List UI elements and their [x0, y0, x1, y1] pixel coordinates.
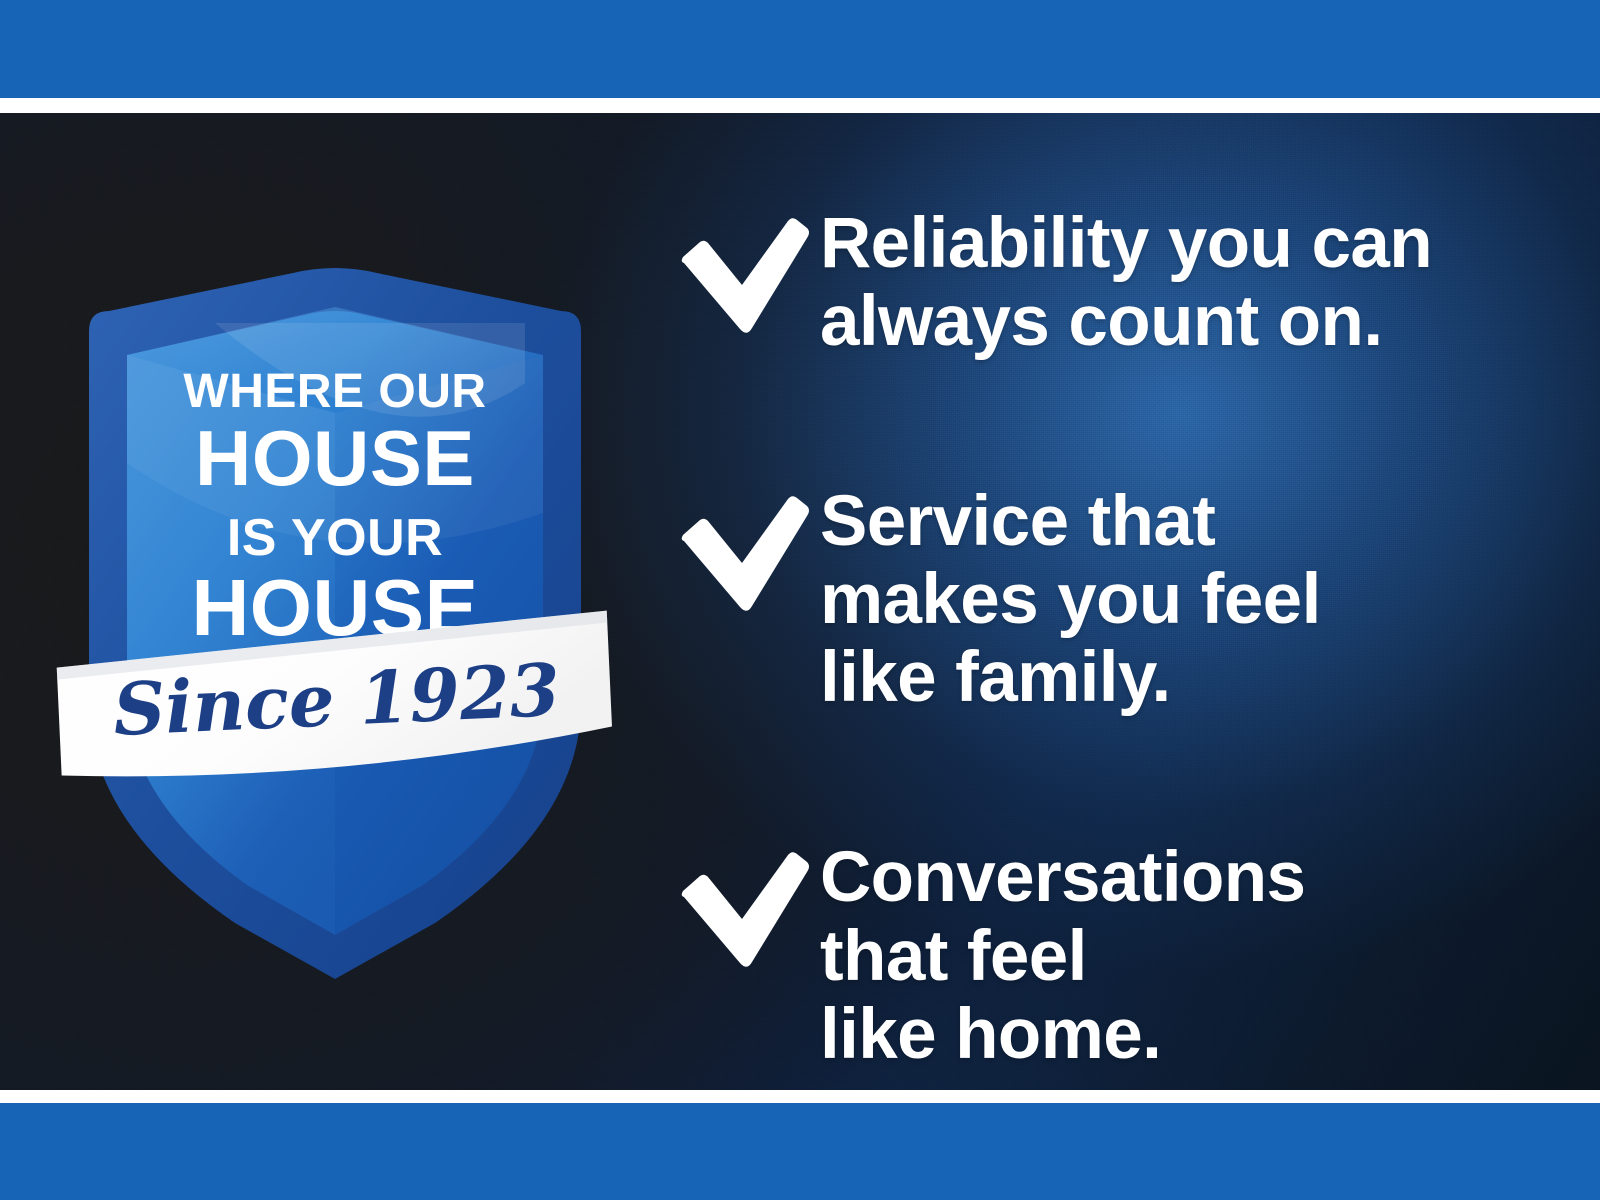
benefit-line: Reliability you can [820, 205, 1570, 283]
bottom-brand-bar [0, 1103, 1600, 1200]
check-icon-wrap-2 [670, 483, 820, 615]
benefit-line: Service that [820, 483, 1570, 561]
promo-poster: WHERE OUR HOUSE IS YOUR HOUSE Since 1923 [0, 0, 1600, 1200]
benefits-list: Reliability you can always count on. Ser… [670, 205, 1570, 1074]
shield-badge: WHERE OUR HOUSE IS YOUR HOUSE Since 1923 [55, 263, 615, 963]
top-brand-bar [0, 0, 1600, 98]
bottom-bar-divider [0, 1090, 1600, 1103]
benefit-text-1: Reliability you can always count on. [820, 205, 1570, 361]
check-icon [670, 215, 810, 337]
top-bar-divider [0, 98, 1600, 113]
benefit-text-2: Service that makes you feel like family. [820, 483, 1570, 717]
benefit-item-reliability: Reliability you can always count on. [670, 205, 1570, 361]
check-icon [670, 849, 810, 971]
badge-line-3: IS YOUR [227, 509, 443, 567]
benefit-item-conversations: Conversations that feel like home. [670, 839, 1570, 1073]
benefit-item-service: Service that makes you feel like family. [670, 483, 1570, 717]
badge-line-1: WHERE OUR [183, 365, 486, 418]
benefit-line: Conversations [820, 839, 1570, 917]
benefit-line: like family. [820, 639, 1570, 717]
benefit-line: that feel [820, 918, 1570, 996]
badge-line-2: HOUSE [195, 414, 475, 502]
check-icon-wrap-1 [670, 205, 820, 337]
benefit-line: like home. [820, 996, 1570, 1074]
check-icon [670, 493, 810, 615]
benefit-line: always count on. [820, 283, 1570, 361]
poster-canvas: WHERE OUR HOUSE IS YOUR HOUSE Since 1923 [0, 113, 1600, 1090]
check-icon-wrap-3 [670, 839, 820, 971]
benefit-text-3: Conversations that feel like home. [820, 839, 1570, 1073]
benefit-line: makes you feel [820, 561, 1570, 639]
